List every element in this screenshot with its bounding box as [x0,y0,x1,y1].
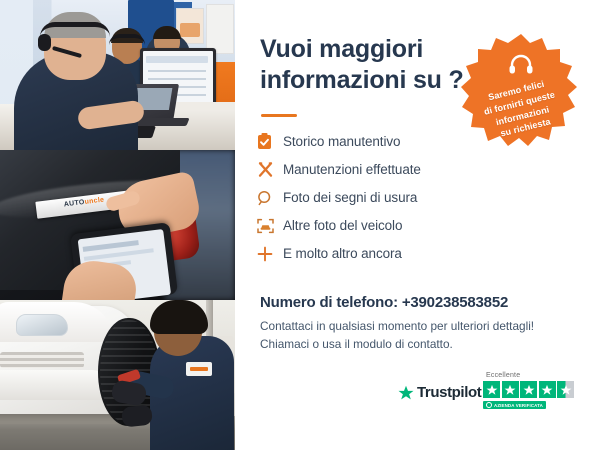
heading-line-2: informazioni su ? [260,65,475,96]
list-item-label: Altre foto del veicolo [283,218,402,233]
call-center-agent-photo [0,0,235,150]
verified-check-icon [486,402,492,408]
car-scan-icon [257,216,283,236]
plus-icon [257,244,283,264]
star-5-half [557,381,574,398]
list-item: Manutenzioni effettuate [257,156,507,183]
trustpilot-stars [483,381,574,398]
list-item-label: Storico manutentivo [283,134,400,149]
star-2 [502,381,519,398]
wrench-cross-icon [257,160,283,180]
list-item-label: E molto altro ancora [283,246,402,261]
trustpilot-logo: Trustpilot [398,384,481,401]
list-item: Altre foto del veicolo [257,212,507,239]
trustpilot-star-icon [398,385,414,401]
list-item-label: Foto dei segni di usura [283,190,417,205]
mechanic-wheel-photo [0,300,235,450]
trustpilot-rating-label: Eccellente [486,372,520,379]
list-item: Storico manutentivo [257,128,507,155]
star-3 [520,381,537,398]
page-title: Vuoi maggiori informazioni su ? [260,34,475,95]
vehicle-inspection-photo: AUTOuncle [0,150,235,300]
magnifier-icon [257,188,283,208]
star-1 [483,381,500,398]
list-item: Foto dei segni di usura [257,184,507,211]
content-panel: Vuoi maggiori informazioni su ? Saremo f… [235,0,600,450]
photo-column: AUTOuncle [0,0,235,450]
trustpilot-name: Trustpilot [417,384,481,401]
contact-subtext-line-1: Contattaci in qualsiasi momento per ulte… [260,318,560,336]
title-underline [261,114,297,117]
contact-subtext-line-2: Chiamaci o usa il modulo di contatto. [260,336,560,354]
star-4 [539,381,556,398]
phone-line: Numero di telefono: +390238583852 [260,294,508,311]
trustpilot-widget[interactable]: Trustpilot Eccellente [398,372,593,418]
contact-subtext: Contattaci in qualsiasi momento per ulte… [260,318,560,353]
headset-icon [508,54,534,74]
list-item-label: Manutenzioni effettuate [283,162,421,177]
verified-business-badge: AZIENDA VERIFICATA [483,401,546,409]
feature-list: Storico manutentivo Manutenzioni effettu… [257,128,507,268]
list-item: E molto altro ancora [257,240,507,267]
heading-line-1: Vuoi maggiori [260,34,475,65]
clipboard-check-icon [257,132,283,152]
promo-banner: AUTOuncle Vuoi maggiori infor [0,0,600,450]
verified-business-label: AZIENDA VERIFICATA [494,403,543,408]
